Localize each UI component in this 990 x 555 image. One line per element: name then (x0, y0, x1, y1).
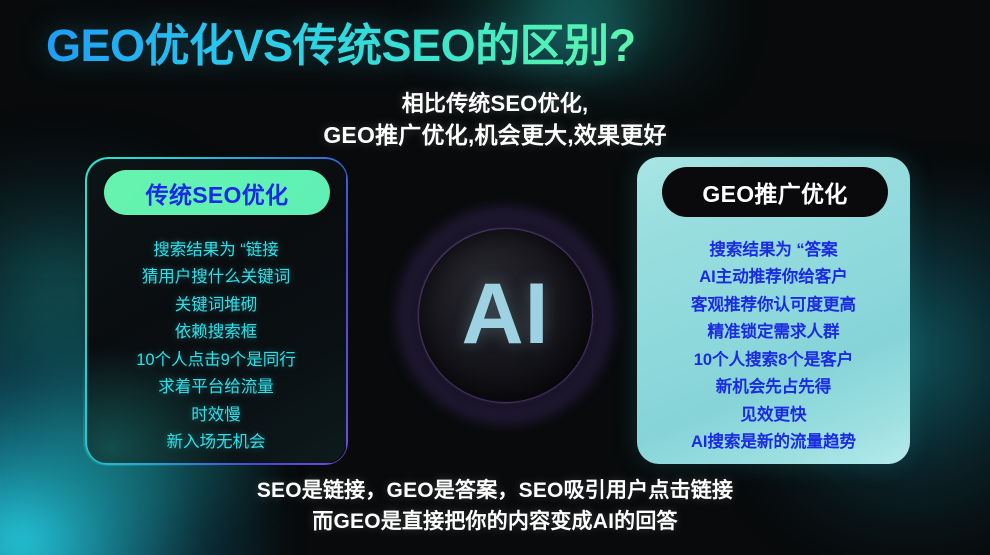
ai-orb: AI (418, 228, 593, 403)
ai-orb-circle: AI (418, 228, 593, 403)
subtitle: 相比传统SEO优化, GEO推广优化,机会更大,效果更好 (0, 88, 990, 152)
geo-promotion-badge: GEO推广优化 (662, 167, 888, 217)
traditional-seo-list: 搜索结果为 “链接 猜用户搜什么关键词 关键词堆砌 依赖搜索框 10个人点击9个… (85, 236, 347, 456)
footer-line-2: 而GEO是直接把你的内容变成AI的回答 (0, 507, 990, 537)
subtitle-line-1: 相比传统SEO优化, (0, 88, 990, 119)
geo-promotion-list: 搜索结果为 “答案 AI主动推荐你给客户 客观推荐你认可度更高 精准锁定需求人群… (637, 236, 910, 456)
page-title: GEO优化VS传统SEO的区别? (46, 22, 636, 69)
list-item: 依赖搜索框 (85, 319, 347, 347)
list-item: 猜用户搜什么关键词 (85, 264, 347, 292)
list-item: 10个人搜索8个是客户 (637, 346, 910, 374)
list-item: AI搜索是新的流量趋势 (637, 429, 910, 457)
list-item: 求着平台给流量 (85, 374, 347, 402)
traditional-seo-badge: 传统SEO优化 (104, 170, 330, 215)
list-item: 精准锁定需求人群 (637, 319, 910, 347)
list-item: 见效更快 (637, 401, 910, 429)
list-item: 搜索结果为 “链接 (85, 236, 347, 264)
ai-orb-label: AI (462, 271, 550, 357)
list-item: 关键词堆砌 (85, 291, 347, 319)
slide-canvas: GEO优化VS传统SEO的区别? 相比传统SEO优化, GEO推广优化,机会更大… (0, 0, 990, 555)
list-item: 搜索结果为 “答案 (637, 236, 910, 264)
list-item: 客观推荐你认可度更高 (637, 291, 910, 319)
list-item: 新机会先占先得 (637, 374, 910, 402)
list-item: 时效慢 (85, 401, 347, 429)
footer-summary: SEO是链接，GEO是答案，SEO吸引用户点击链接 而GEO是直接把你的内容变成… (0, 476, 990, 537)
footer-line-1: SEO是链接，GEO是答案，SEO吸引用户点击链接 (0, 476, 990, 506)
list-item: AI主动推荐你给客户 (637, 264, 910, 292)
list-item: 新入场无机会 (85, 429, 347, 457)
list-item: 10个人点击9个是同行 (85, 346, 347, 374)
subtitle-line-2: GEO推广优化,机会更大,效果更好 (0, 119, 990, 152)
